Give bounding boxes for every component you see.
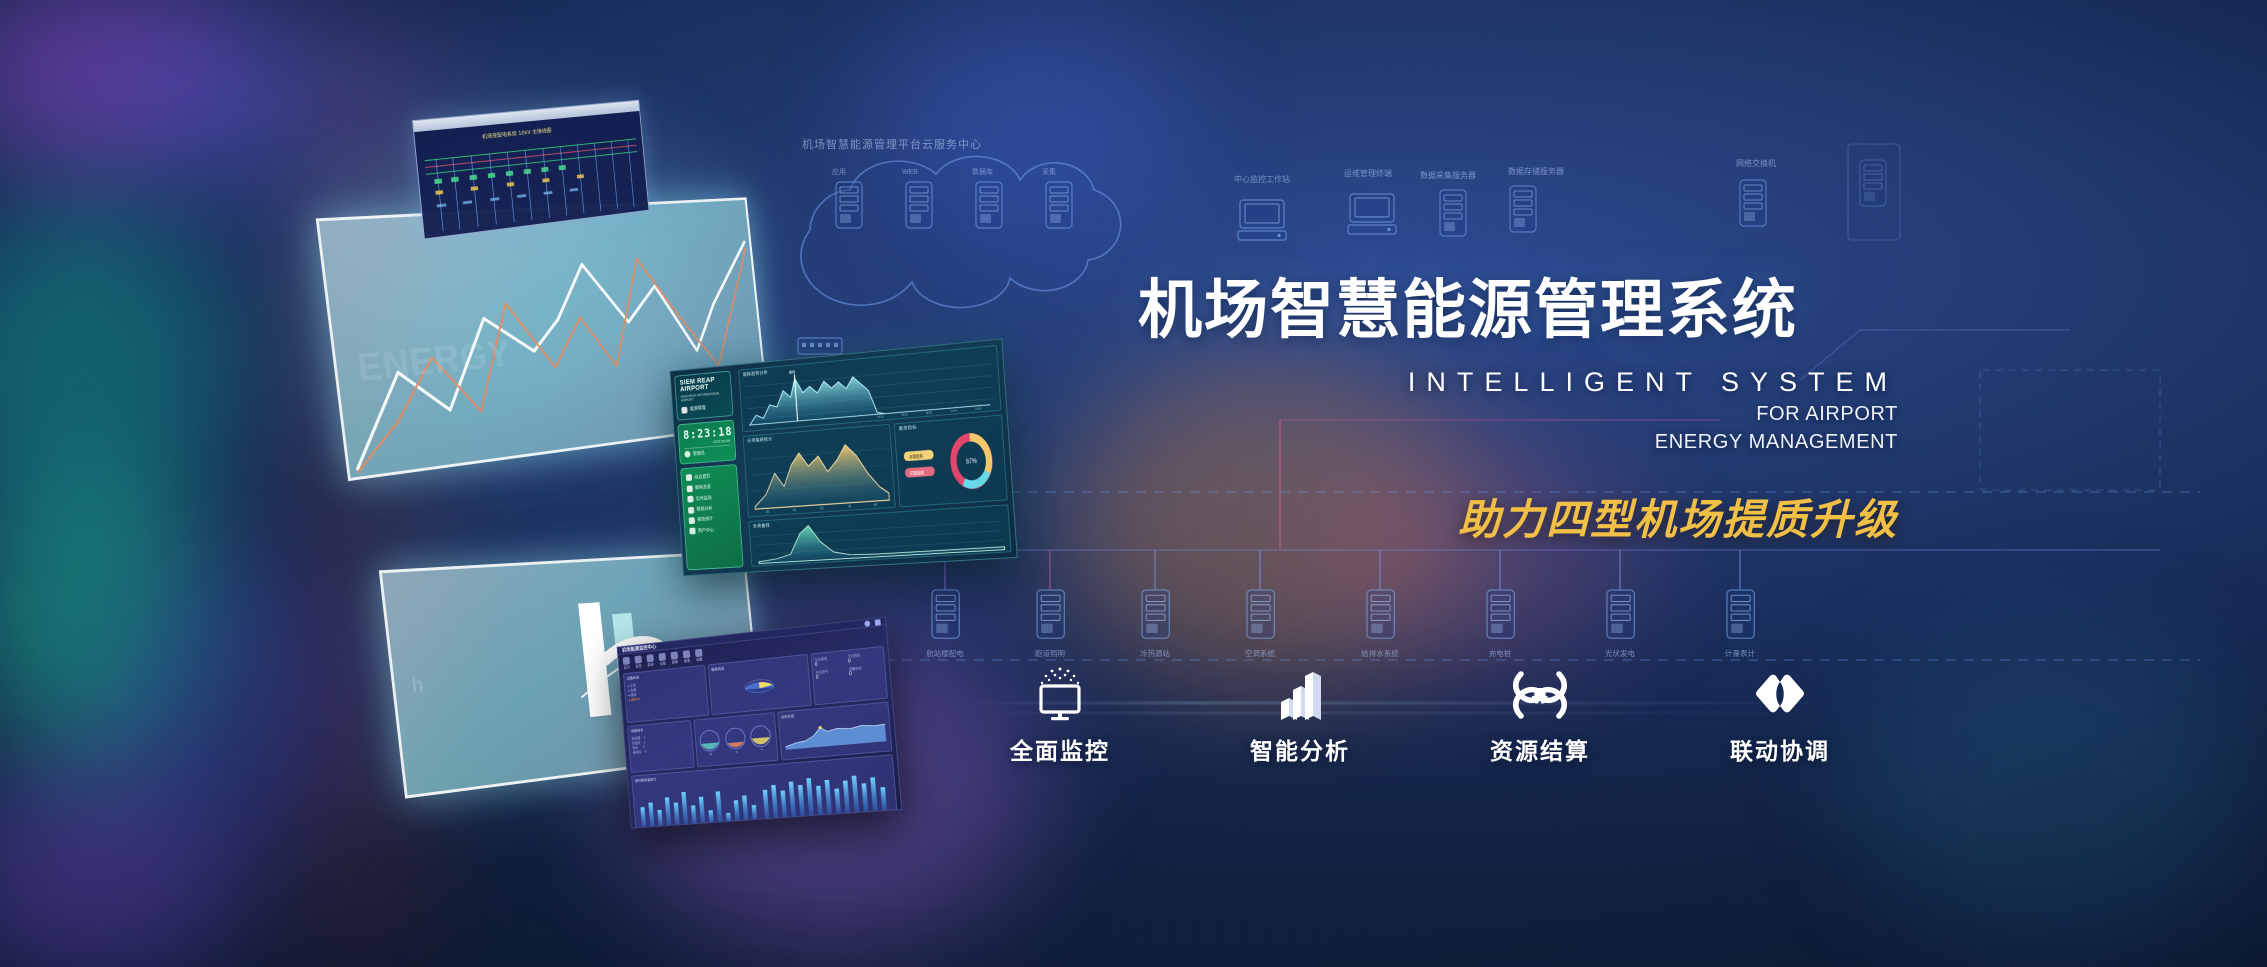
background-noise xyxy=(0,0,2267,967)
banner-hero: 机场智慧能源管理平台云服务中心 应用 WEB 数据库 采集 中心监控工作站 运维… xyxy=(0,0,2267,967)
